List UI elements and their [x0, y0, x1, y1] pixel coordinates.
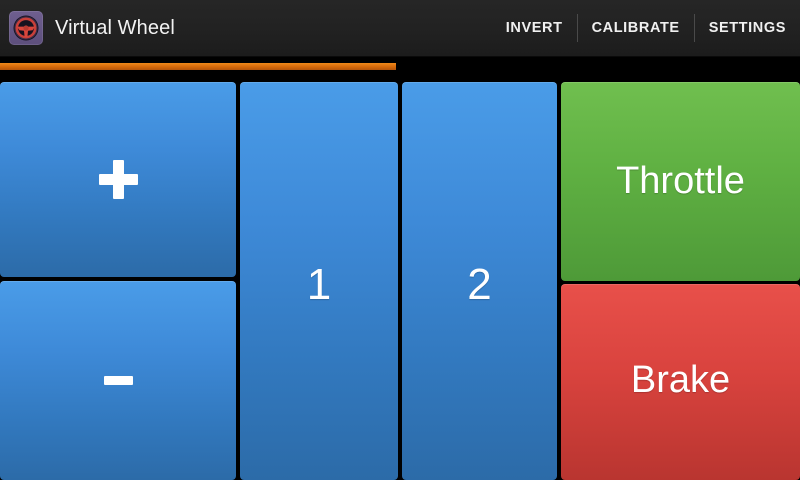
action-bar: Virtual Wheel INVERT CALIBRATE SETTINGS	[0, 0, 800, 57]
throttle-button[interactable]: Throttle	[561, 82, 800, 281]
action-item-calibrate[interactable]: CALIBRATE	[578, 0, 694, 56]
gear-2-label: 2	[467, 263, 491, 307]
gear-down-button[interactable]	[0, 281, 236, 480]
action-bar-items: INVERT CALIBRATE SETTINGS	[492, 0, 800, 56]
gear-up-button[interactable]	[0, 82, 236, 277]
throttle-label: Throttle	[616, 162, 745, 200]
steering-wheel-icon	[9, 11, 43, 45]
action-item-settings[interactable]: SETTINGS	[695, 0, 800, 56]
brake-button[interactable]: Brake	[561, 284, 800, 480]
action-item-invert[interactable]: INVERT	[492, 0, 577, 56]
app-screen: Virtual Wheel INVERT CALIBRATE SETTINGS …	[0, 0, 800, 480]
control-grid: 1 2 Throttle Brake	[0, 82, 800, 480]
brake-label: Brake	[631, 361, 730, 399]
gear-1-label: 1	[307, 263, 331, 307]
page-title: Virtual Wheel	[55, 17, 175, 40]
gear-1-button[interactable]: 1	[240, 82, 398, 480]
steering-indicator-track	[0, 63, 800, 70]
steering-indicator-fill	[0, 63, 396, 70]
gear-2-button[interactable]: 2	[402, 82, 557, 480]
